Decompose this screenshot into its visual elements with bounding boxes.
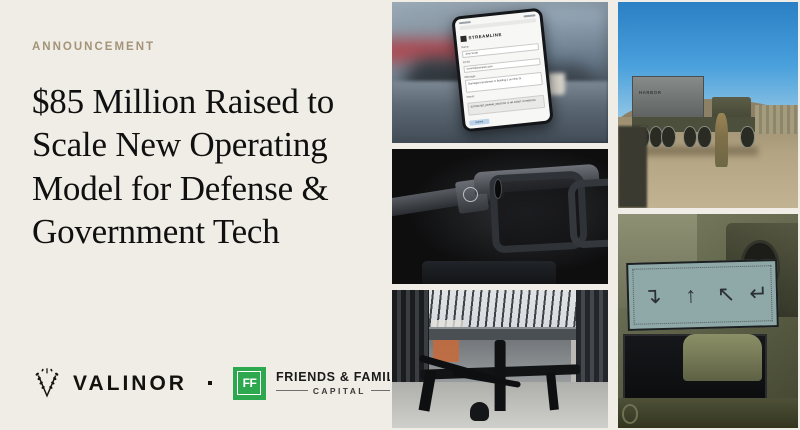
- shipping-container: HARBOR: [632, 76, 704, 119]
- arrow-indicator-panel: ↴ ↑ ↖ ↵: [626, 259, 779, 331]
- arrow-down-left-icon: ↴: [636, 276, 669, 317]
- arrow-up-icon: ↑: [673, 275, 709, 316]
- logo-separator-dot: [208, 381, 212, 385]
- photo-phone-app: STREAMLINE Name: John Smith Email: hsmit…: [392, 2, 608, 143]
- soldier-figure: [715, 113, 728, 167]
- valinor-laurel-v-mark: [32, 367, 62, 399]
- ff-badge-text: FF: [243, 377, 257, 389]
- photo-drone-hangar: [392, 290, 608, 428]
- page-title: $85 Million Raised to Scale New Operatin…: [32, 80, 364, 254]
- ff-subtitle: CAPITAL: [313, 387, 366, 396]
- submit-button[interactable]: Submit: [469, 119, 489, 125]
- streamline-brand-text: STREAMLINE: [468, 33, 502, 41]
- arrow-up-left-icon: ↖: [709, 274, 742, 315]
- ff-badge-icon: FF: [233, 367, 266, 400]
- eyebrow-label: ANNOUNCEMENT: [32, 42, 364, 54]
- streamline-logo-icon: [460, 36, 467, 43]
- photo-military-truck: HARBOR: [618, 2, 798, 208]
- phone-screen: STREAMLINE Name: John Smith Email: hsmit…: [454, 11, 550, 129]
- left-text-panel: ANNOUNCEMENT $85 Million Raised to Scale…: [0, 0, 390, 430]
- arrow-return-icon: ↵: [743, 273, 773, 314]
- glasses-camera-icon: [463, 187, 478, 202]
- ff-text-block: FRIENDS & FAMILY CAPITAL: [276, 371, 403, 395]
- logo-row: VALINOR FF FRIENDS & FAMILY CAPITAL: [32, 362, 403, 404]
- container-label: HARBOR: [639, 90, 662, 95]
- photo-grid: STREAMLINE Name: John Smith Email: hsmit…: [390, 0, 800, 430]
- announcement-card: ANNOUNCEMENT $85 Million Raised to Scale…: [0, 0, 800, 430]
- friends-family-logo[interactable]: FF FRIENDS & FAMILY CAPITAL: [233, 367, 403, 400]
- valinor-logo[interactable]: VALINOR: [32, 367, 187, 399]
- ff-name: FRIENDS & FAMILY: [276, 371, 403, 384]
- valinor-wordmark: VALINOR: [73, 373, 187, 394]
- photo-arrow-panel: ↴ ↑ ↖ ↵: [618, 214, 798, 428]
- ff-rule-left: [276, 390, 308, 391]
- photo-smart-glasses: [392, 149, 608, 284]
- ff-subtitle-row: CAPITAL: [276, 387, 403, 396]
- phone-device: STREAMLINE Name: John Smith Email: hsmit…: [451, 7, 553, 131]
